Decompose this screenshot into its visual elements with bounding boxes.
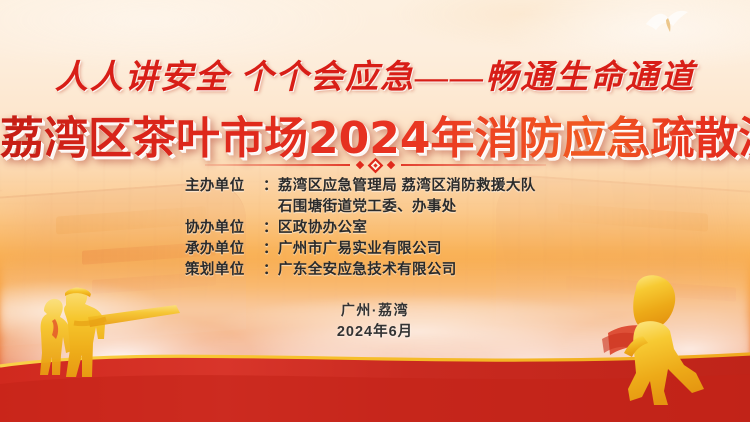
organizer-row: 主办单位 ： 石围塘街道党工委、办事处: [185, 197, 565, 218]
organizer-value: 区政协办公室: [278, 218, 565, 239]
organizer-row: 主办单位 ： 荔湾区应急管理局 荔湾区消防救援大队: [185, 176, 565, 197]
flying-bird-icon: [644, 6, 690, 40]
organizer-label: 策划单位: [185, 260, 263, 281]
decorative-divider: [0, 158, 750, 172]
organizer-colon: ：: [263, 176, 278, 197]
organizer-colon: ：: [263, 260, 278, 281]
event-date: 2024年6月: [0, 320, 750, 341]
divider-line-right: [401, 164, 546, 166]
organizer-value: 广东全安应急技术有限公司: [278, 260, 565, 281]
slogan-text: 人人讲安全 个个会应急——畅通生命通道: [0, 50, 750, 96]
diamond-ornament-icon-left: [355, 161, 363, 169]
diamond-ornament-icon-center: [367, 157, 383, 173]
divider-line-left: [205, 164, 350, 166]
page-title: 荔湾区茶叶市场2024年消防应急疏散演练: [0, 102, 750, 154]
organizer-label: 承办单位: [185, 239, 263, 260]
event-location: 广州·荔湾: [0, 300, 750, 320]
organizer-label: 主办单位: [185, 176, 263, 197]
organizer-label: 协办单位: [185, 218, 263, 239]
organizer-row: 承办单位 ： 广州市广易实业有限公司: [185, 239, 565, 260]
organizer-value: 石围塘街道党工委、办事处: [278, 197, 565, 218]
organizer-value: 广州市广易实业有限公司: [278, 239, 565, 260]
organizer-list: 主办单位 ： 荔湾区应急管理局 荔湾区消防救援大队 主办单位 ： 石围塘街道党工…: [0, 176, 750, 281]
diamond-ornament-icon-right: [386, 161, 394, 169]
organizer-row: 协办单位 ： 区政协办公室: [185, 218, 565, 239]
organizer-colon: ：: [263, 239, 278, 260]
organizer-colon: ：: [263, 218, 278, 239]
organizer-value: 荔湾区应急管理局 荔湾区消防救援大队: [278, 176, 565, 197]
poster-canvas: 人人讲安全 个个会应急——畅通生命通道 荔湾区茶叶市场2024年消防应急疏散演练…: [0, 0, 750, 422]
organizer-row: 策划单位 ： 广东全安应急技术有限公司: [185, 260, 565, 281]
